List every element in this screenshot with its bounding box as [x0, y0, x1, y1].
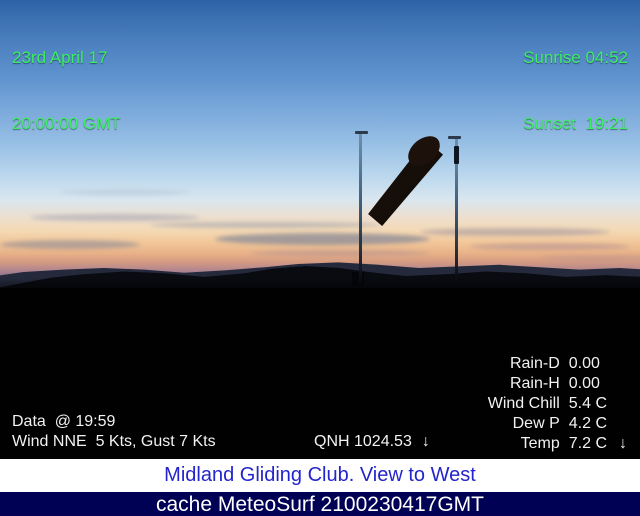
cloud-band	[60, 190, 190, 195]
metric-label: Wind Chill	[479, 394, 560, 414]
webcam-screenshot: 23rd April 17 20:00:00 GMT Sunrise 04:52…	[0, 0, 640, 516]
datetime-overlay: 23rd April 17 20:00:00 GMT	[12, 3, 121, 179]
data-timestamp: Data @ 19:59	[12, 412, 115, 432]
metric-row: Rain-H0.00	[479, 374, 630, 394]
metric-value: 5.4 C	[560, 394, 607, 414]
metric-row: Temp7.2 C↓	[479, 434, 630, 454]
metric-row: Wind Chill5.4 C	[479, 394, 630, 414]
metric-row: Dew P4.2 C	[479, 414, 630, 434]
metric-trend-arrow-icon	[607, 374, 630, 394]
pole-collar	[454, 146, 459, 164]
weather-metrics-table: Rain-D0.00Rain-H0.00Wind Chill5.4 CDew P…	[479, 354, 630, 454]
cloud-band	[150, 222, 380, 228]
sunset-label: Sunset 19:21	[523, 113, 628, 135]
sunrise-label: Sunrise 04:52	[523, 47, 628, 69]
overlay-time: 20:00:00 GMT	[12, 113, 121, 135]
webcam-image: 23rd April 17 20:00:00 GMT Sunrise 04:52…	[0, 0, 640, 459]
weather-metrics-panel: Rain-D0.00Rain-H0.00Wind Chill5.4 CDew P…	[479, 354, 630, 454]
status-bar: cache MeteoSurf 2100230417GMT	[0, 492, 640, 516]
cloud-band	[215, 233, 430, 245]
qnh-trend-arrow-icon: ↓	[412, 433, 430, 450]
metric-label: Rain-D	[479, 354, 560, 374]
cloud-band	[30, 214, 200, 221]
sun-times-overlay: Sunrise 04:52 Sunset 19:21	[523, 3, 628, 179]
metric-trend-arrow-icon: ↓	[607, 434, 630, 454]
cloud-band	[420, 228, 610, 236]
metric-value: 7.2 C	[560, 434, 607, 454]
metric-row: Rain-D0.00	[479, 354, 630, 374]
metric-label: Temp	[479, 434, 560, 454]
overlay-date: 23rd April 17	[12, 47, 121, 69]
cloud-band	[0, 240, 140, 249]
metric-value: 4.2 C	[560, 414, 607, 434]
caption-title: Midland Gliding Club. View to West	[164, 464, 476, 487]
metric-label: Rain-H	[479, 374, 560, 394]
metric-label: Dew P	[479, 414, 560, 434]
metric-value: 0.00	[560, 374, 607, 394]
metric-value: 0.00	[560, 354, 607, 374]
qnh-value: QNH 1024.53	[314, 433, 412, 450]
metric-trend-arrow-icon	[607, 354, 630, 374]
cloud-band	[470, 243, 630, 250]
metric-trend-arrow-icon	[607, 414, 630, 434]
wind-readout: Wind NNE 5 Kts, Gust 7 Kts	[12, 432, 216, 452]
cloud-band	[250, 250, 430, 256]
caption-bar: Midland Gliding Club. View to West	[0, 459, 640, 492]
qnh-readout: QNH 1024.53↓	[314, 432, 430, 452]
pole-cap-right	[448, 136, 461, 139]
pole-cap-left	[355, 131, 368, 134]
status-text: cache MeteoSurf 2100230417GMT	[156, 493, 484, 516]
windsock-pole-left	[359, 133, 362, 285]
metric-trend-arrow-icon	[607, 394, 630, 414]
